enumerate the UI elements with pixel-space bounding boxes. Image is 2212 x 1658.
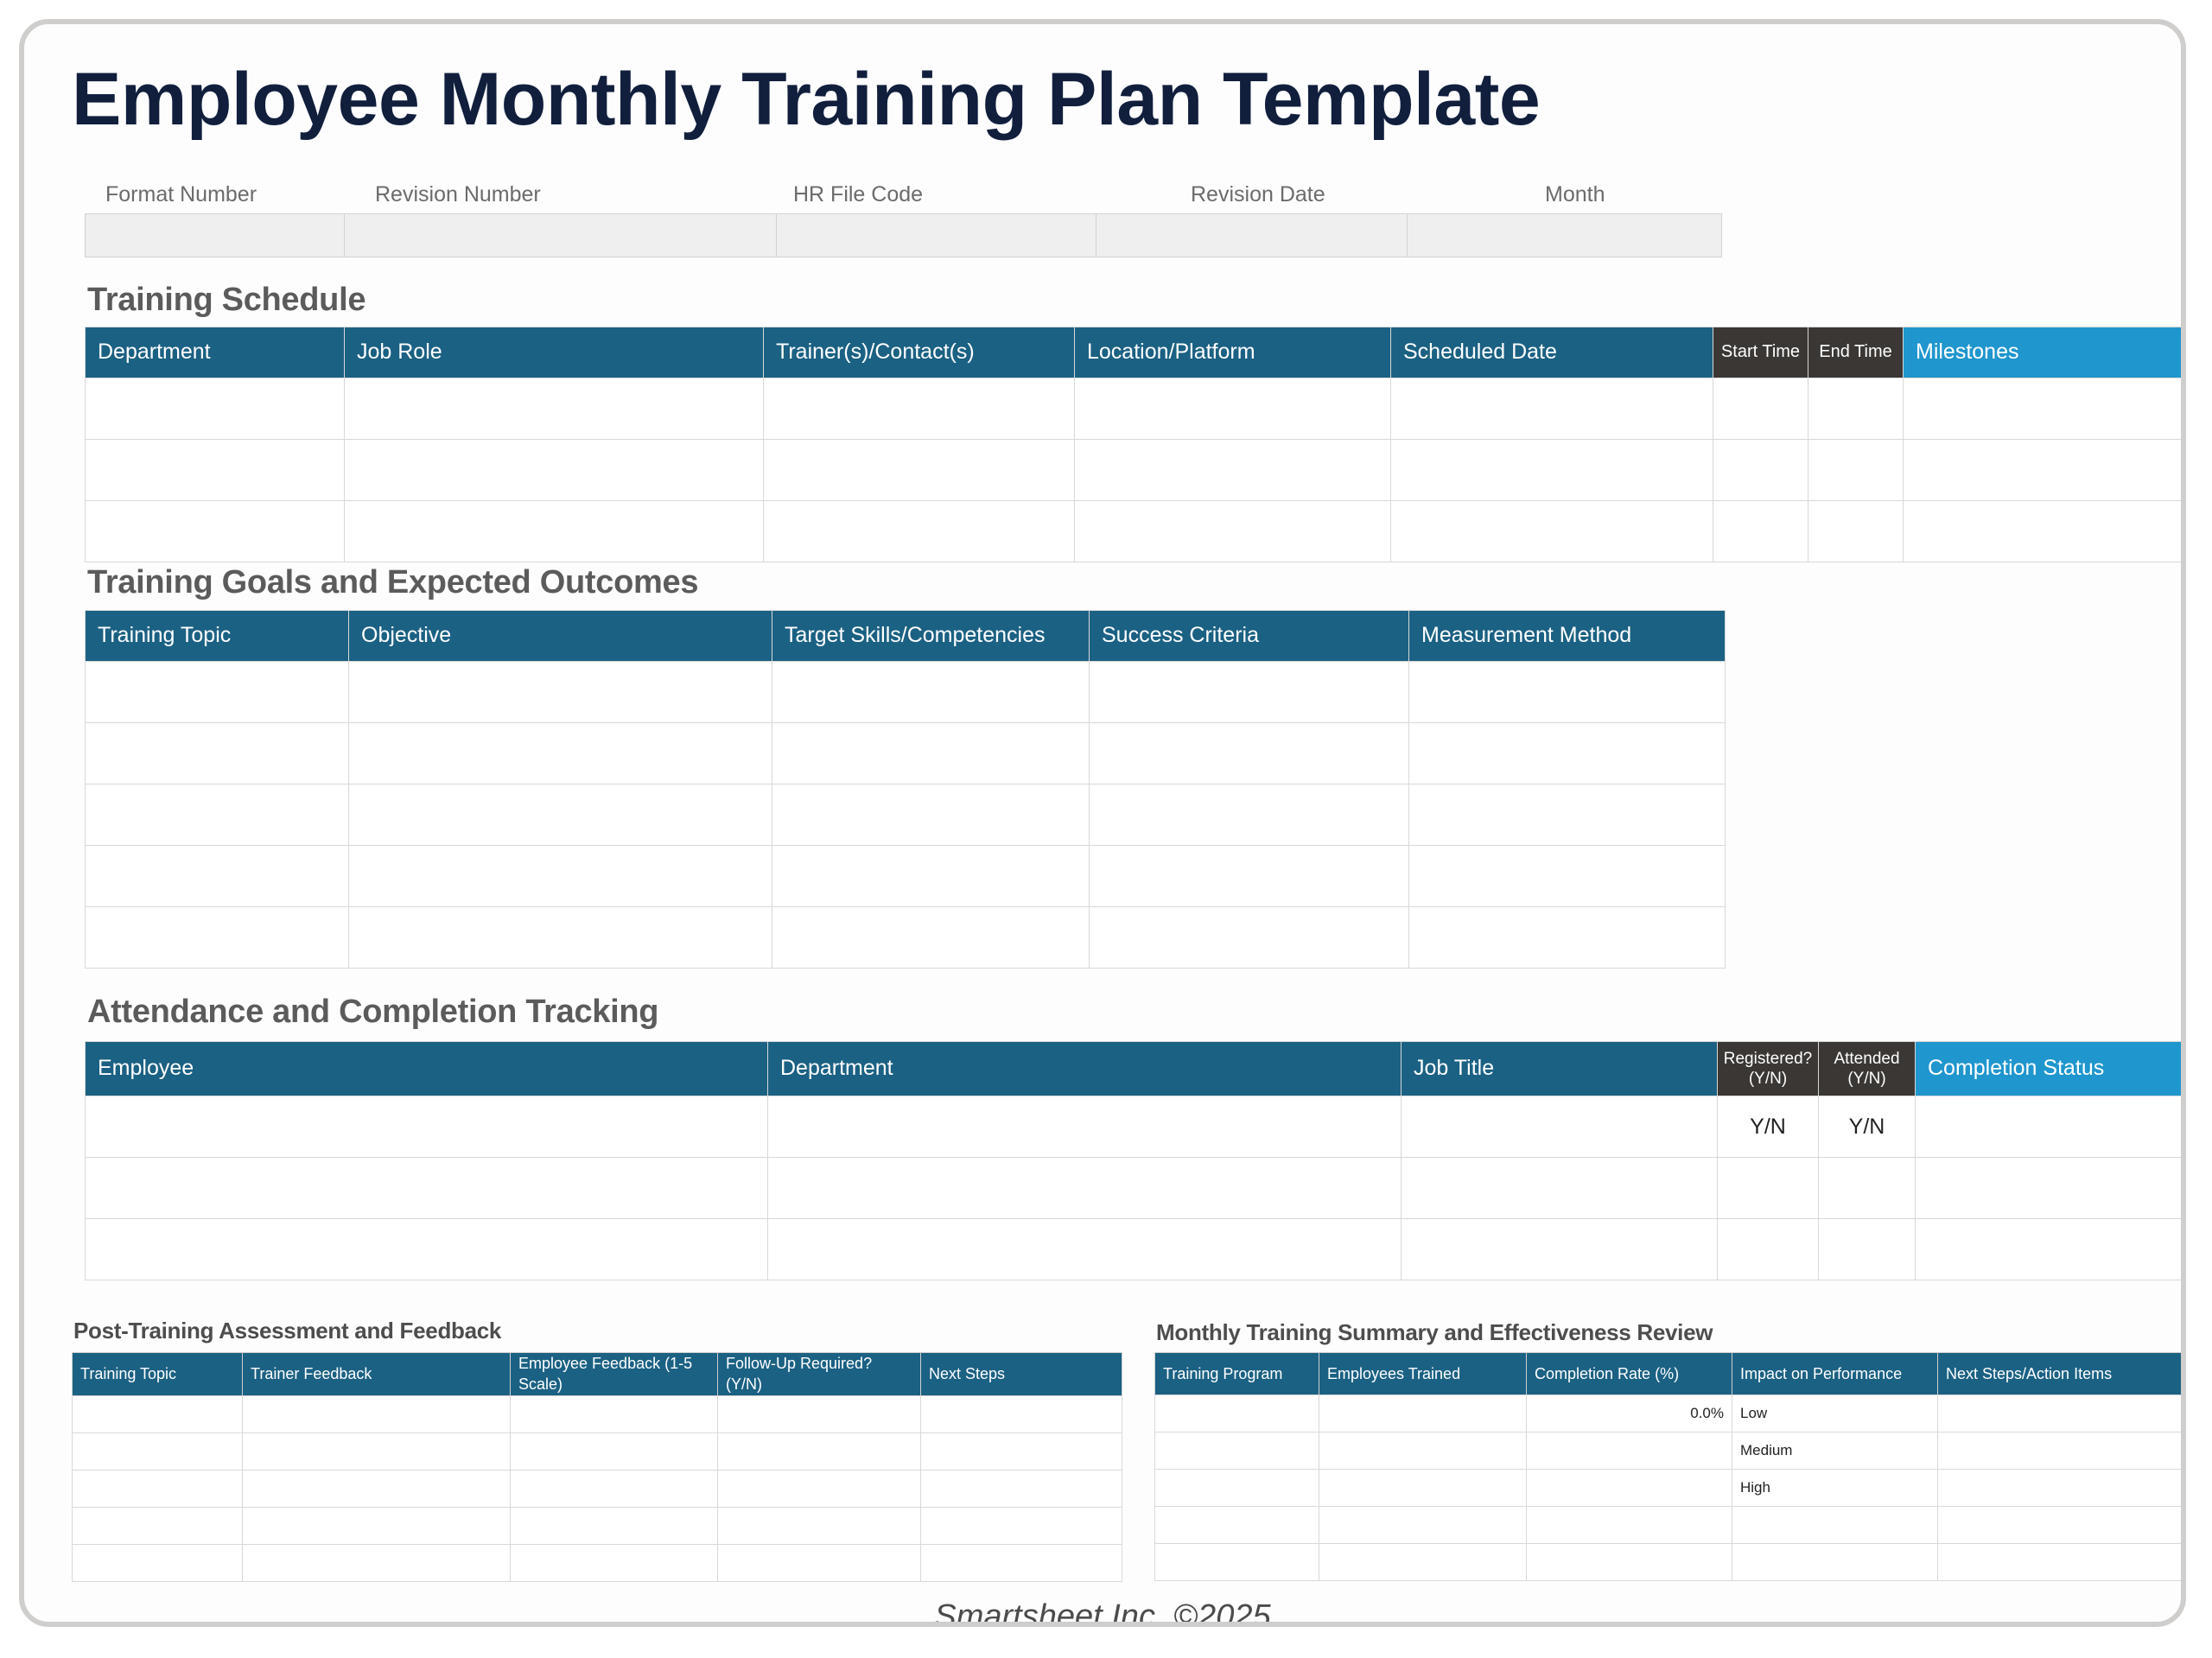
cell-completion-rate[interactable] <box>1527 1470 1732 1507</box>
cell-measurement-method[interactable] <box>1409 662 1726 723</box>
cell-next-steps-action-items[interactable] <box>1938 1395 2183 1432</box>
cell-next-steps-action-items[interactable] <box>1938 1470 2183 1507</box>
cell-employees-trained[interactable] <box>1319 1544 1527 1581</box>
col-training-program[interactable]: Training Program <box>1155 1353 1319 1395</box>
cell-follow-up-required[interactable] <box>718 1507 921 1544</box>
col-job-role[interactable]: Job Role <box>345 327 764 378</box>
meta-label-revision-date: Revision Date <box>1191 182 1325 207</box>
table-row <box>1155 1544 2183 1581</box>
col-location[interactable]: Location/Platform <box>1075 327 1391 378</box>
col-training-topic[interactable]: Training Topic <box>86 611 349 662</box>
col-department[interactable]: Department <box>768 1042 1402 1096</box>
cell-registered[interactable] <box>1718 1219 1819 1280</box>
cell-impact-on-performance[interactable]: Low <box>1732 1395 1938 1432</box>
section-heading-training-goals: Training Goals and Expected Outcomes <box>87 564 698 601</box>
meta-label-hr-file-code: HR File Code <box>793 182 923 207</box>
cell-start-time[interactable] <box>1713 440 1808 501</box>
col-target-skills[interactable]: Target Skills/Competencies <box>772 611 1090 662</box>
table-row: High <box>1155 1470 2183 1507</box>
cell-job-title[interactable] <box>1402 1219 1718 1280</box>
table-row <box>86 440 2187 501</box>
col-completion-status[interactable]: Completion Status <box>1916 1042 2187 1096</box>
table-row: Y/N Y/N <box>86 1096 2187 1158</box>
cell-department[interactable] <box>768 1219 1402 1280</box>
col-employees-trained[interactable]: Employees Trained <box>1319 1353 1527 1395</box>
cell-trainer-feedback[interactable] <box>243 1544 511 1581</box>
cell-training-program[interactable] <box>1155 1395 1319 1432</box>
cell-trainer-feedback[interactable] <box>243 1507 511 1544</box>
cell-attended[interactable] <box>1819 1158 1916 1219</box>
cell-job-title[interactable] <box>1402 1096 1718 1158</box>
table-header-row: Training Topic Objective Target Skills/C… <box>86 611 1726 662</box>
cell-training-program[interactable] <box>1155 1507 1319 1544</box>
cell-objective[interactable] <box>349 907 772 969</box>
meta-field-month[interactable] <box>1408 214 1722 257</box>
cell-training-topic[interactable] <box>73 1432 243 1470</box>
table-row <box>86 662 1726 723</box>
cell-milestones[interactable] <box>1904 501 2187 562</box>
table-row <box>73 1544 1122 1581</box>
cell-impact-on-performance[interactable]: Medium <box>1732 1432 1938 1470</box>
section-heading-post-training: Post-Training Assessment and Feedback <box>73 1318 501 1344</box>
meta-field-revision-number[interactable] <box>345 214 777 257</box>
cell-location[interactable] <box>1075 440 1391 501</box>
cell-employees-trained[interactable] <box>1319 1507 1527 1544</box>
attendance-tracking-table: Employee Department Job Title Registered… <box>85 1041 2186 1280</box>
cell-impact-on-performance[interactable]: High <box>1732 1470 1938 1507</box>
cell-objective[interactable] <box>349 662 772 723</box>
col-measurement-method[interactable]: Measurement Method <box>1409 611 1726 662</box>
cell-completion-rate[interactable]: 0.0% <box>1527 1395 1732 1432</box>
cell-training-topic[interactable] <box>86 907 349 969</box>
meta-label-revision-number: Revision Number <box>375 182 541 207</box>
col-attended[interactable]: Attended (Y/N) <box>1819 1042 1916 1096</box>
training-goals-table: Training Topic Objective Target Skills/C… <box>85 610 1726 969</box>
table-row <box>73 1507 1122 1544</box>
cell-training-topic[interactable] <box>86 846 349 907</box>
cell-milestones[interactable] <box>1904 378 2187 440</box>
cell-trainers[interactable] <box>764 440 1075 501</box>
cell-employee[interactable] <box>86 1096 768 1158</box>
table-header-row: Employee Department Job Title Registered… <box>86 1042 2187 1096</box>
col-end-time[interactable]: End Time <box>1808 327 1904 378</box>
cell-next-steps[interactable] <box>921 1507 1122 1544</box>
cell-next-steps[interactable] <box>921 1432 1122 1470</box>
cell-training-topic[interactable] <box>73 1544 243 1581</box>
cell-next-steps[interactable] <box>921 1395 1122 1432</box>
col-next-steps-action-items[interactable]: Next Steps/Action Items <box>1938 1353 2183 1395</box>
cell-completion-rate[interactable] <box>1527 1544 1732 1581</box>
meta-field-revision-date[interactable] <box>1096 214 1408 257</box>
cell-target-skills[interactable] <box>772 907 1090 969</box>
cell-objective[interactable] <box>349 785 772 846</box>
document-page: Employee Monthly Training Plan Template … <box>19 19 2186 1627</box>
post-training-feedback-table: Training Topic Trainer Feedback Employee… <box>72 1352 1122 1582</box>
cell-measurement-method[interactable] <box>1409 846 1726 907</box>
col-next-steps[interactable]: Next Steps <box>921 1353 1122 1396</box>
cell-attended[interactable]: Y/N <box>1819 1096 1916 1158</box>
cell-next-steps-action-items[interactable] <box>1938 1544 2183 1581</box>
cell-trainers[interactable] <box>764 378 1075 440</box>
col-follow-up-required[interactable]: Follow-Up Required? (Y/N) <box>718 1353 921 1396</box>
cell-follow-up-required[interactable] <box>718 1544 921 1581</box>
document-body: Employee Monthly Training Plan Template … <box>24 24 2181 1622</box>
meta-value-row <box>85 213 1722 257</box>
page-title: Employee Monthly Training Plan Template <box>72 57 1540 143</box>
cell-employee-feedback[interactable] <box>511 1432 718 1470</box>
training-schedule-table: Department Job Role Trainer(s)/Contact(s… <box>85 327 2186 562</box>
section-heading-attendance: Attendance and Completion Tracking <box>87 994 658 1031</box>
col-training-topic[interactable]: Training Topic <box>73 1353 243 1396</box>
cell-location[interactable] <box>1075 501 1391 562</box>
cell-employees-trained[interactable] <box>1319 1432 1527 1470</box>
cell-completion-status[interactable] <box>1916 1158 2187 1219</box>
col-impact-on-performance[interactable]: Impact on Performance <box>1732 1353 1938 1395</box>
cell-job-title[interactable] <box>1402 1158 1718 1219</box>
meta-label-format-number: Format Number <box>105 182 257 207</box>
cell-training-topic[interactable] <box>86 785 349 846</box>
cell-department[interactable] <box>768 1158 1402 1219</box>
section-heading-monthly-summary: Monthly Training Summary and Effectivene… <box>1156 1319 1713 1346</box>
col-success-criteria[interactable]: Success Criteria <box>1090 611 1409 662</box>
cell-job-role[interactable] <box>345 440 764 501</box>
cell-objective[interactable] <box>349 723 772 785</box>
col-completion-rate[interactable]: Completion Rate (%) <box>1527 1353 1732 1395</box>
cell-trainer-feedback[interactable] <box>243 1432 511 1470</box>
meta-field-format-number[interactable] <box>86 214 345 257</box>
cell-measurement-method[interactable] <box>1409 785 1726 846</box>
cell-scheduled-date[interactable] <box>1391 440 1713 501</box>
table-header-row: Training Program Employees Trained Compl… <box>1155 1353 2183 1395</box>
cell-department[interactable] <box>768 1096 1402 1158</box>
cell-training-program[interactable] <box>1155 1544 1319 1581</box>
cell-completion-status[interactable] <box>1916 1096 2187 1158</box>
cell-department[interactable] <box>86 440 345 501</box>
cell-registered[interactable]: Y/N <box>1718 1096 1819 1158</box>
meta-field-hr-file-code[interactable] <box>777 214 1096 257</box>
cell-trainer-feedback[interactable] <box>243 1470 511 1507</box>
cell-trainers[interactable] <box>764 501 1075 562</box>
meta-label-row: Format Number Revision Number HR File Co… <box>85 182 1726 206</box>
table-row <box>86 1158 2187 1219</box>
table-row <box>73 1470 1122 1507</box>
col-milestones[interactable]: Milestones <box>1904 327 2187 378</box>
table-row <box>86 1219 2187 1280</box>
cell-employee-feedback[interactable] <box>511 1507 718 1544</box>
cell-start-time[interactable] <box>1713 378 1808 440</box>
cell-start-time[interactable] <box>1713 501 1808 562</box>
cell-registered[interactable] <box>1718 1158 1819 1219</box>
table-header-row: Training Topic Trainer Feedback Employee… <box>73 1353 1122 1396</box>
cell-success-criteria[interactable] <box>1090 785 1409 846</box>
section-heading-training-schedule: Training Schedule <box>87 282 365 319</box>
col-employee[interactable]: Employee <box>86 1042 768 1096</box>
cell-training-topic[interactable] <box>86 723 349 785</box>
cell-training-program[interactable] <box>1155 1470 1319 1507</box>
cell-follow-up-required[interactable] <box>718 1470 921 1507</box>
cell-completion-rate[interactable] <box>1527 1507 1732 1544</box>
cell-scheduled-date[interactable] <box>1391 378 1713 440</box>
cell-employee-feedback[interactable] <box>511 1544 718 1581</box>
cell-training-topic[interactable] <box>73 1470 243 1507</box>
col-start-time[interactable]: Start Time <box>1713 327 1808 378</box>
cell-target-skills[interactable] <box>772 785 1090 846</box>
cell-success-criteria[interactable] <box>1090 662 1409 723</box>
cell-impact-on-performance[interactable] <box>1732 1544 1938 1581</box>
cell-target-skills[interactable] <box>772 723 1090 785</box>
cell-objective[interactable] <box>349 846 772 907</box>
cell-impact-on-performance[interactable] <box>1732 1507 1938 1544</box>
col-trainer-feedback[interactable]: Trainer Feedback <box>243 1353 511 1396</box>
table-row <box>73 1432 1122 1470</box>
cell-scheduled-date[interactable] <box>1391 501 1713 562</box>
col-employee-feedback[interactable]: Employee Feedback (1-5 Scale) <box>511 1353 718 1396</box>
table-header-row: Department Job Role Trainer(s)/Contact(s… <box>86 327 2187 378</box>
cell-end-time[interactable] <box>1808 501 1904 562</box>
cell-location[interactable] <box>1075 378 1391 440</box>
cell-target-skills[interactable] <box>772 662 1090 723</box>
cell-follow-up-required[interactable] <box>718 1432 921 1470</box>
meta-label-month: Month <box>1545 182 1605 207</box>
table-row <box>86 723 1726 785</box>
cell-job-role[interactable] <box>345 501 764 562</box>
monthly-summary-table: Training Program Employees Trained Compl… <box>1154 1352 2183 1581</box>
table-row <box>1155 1507 2183 1544</box>
table-row <box>86 846 1726 907</box>
cell-completion-status[interactable] <box>1916 1219 2187 1280</box>
cell-next-steps[interactable] <box>921 1470 1122 1507</box>
cell-attended[interactable] <box>1819 1219 1916 1280</box>
col-trainers[interactable]: Trainer(s)/Contact(s) <box>764 327 1075 378</box>
col-department[interactable]: Department <box>86 327 345 378</box>
cell-training-program[interactable] <box>1155 1432 1319 1470</box>
table-row: 0.0% Low <box>1155 1395 2183 1432</box>
cell-department[interactable] <box>86 378 345 440</box>
cell-end-time[interactable] <box>1808 440 1904 501</box>
col-scheduled-date[interactable]: Scheduled Date <box>1391 327 1713 378</box>
cell-training-topic[interactable] <box>86 662 349 723</box>
cell-next-steps[interactable] <box>921 1544 1122 1581</box>
cell-next-steps-action-items[interactable] <box>1938 1432 2183 1470</box>
table-row <box>86 501 2187 562</box>
cell-completion-rate[interactable] <box>1527 1432 1732 1470</box>
table-row <box>73 1395 1122 1432</box>
cell-employees-trained[interactable] <box>1319 1395 1527 1432</box>
col-registered[interactable]: Registered? (Y/N) <box>1718 1042 1819 1096</box>
cell-employee[interactable] <box>86 1219 768 1280</box>
col-objective[interactable]: Objective <box>349 611 772 662</box>
cell-department[interactable] <box>86 501 345 562</box>
cell-job-role[interactable] <box>345 378 764 440</box>
cell-employee[interactable] <box>86 1158 768 1219</box>
cell-success-criteria[interactable] <box>1090 723 1409 785</box>
footer-copyright: Smartsheet Inc. ©2025 <box>24 1598 2181 1627</box>
table-row: Medium <box>1155 1432 2183 1470</box>
cell-next-steps-action-items[interactable] <box>1938 1507 2183 1544</box>
cell-measurement-method[interactable] <box>1409 723 1726 785</box>
cell-employee-feedback[interactable] <box>511 1470 718 1507</box>
cell-end-time[interactable] <box>1808 378 1904 440</box>
cell-follow-up-required[interactable] <box>718 1395 921 1432</box>
cell-trainer-feedback[interactable] <box>243 1395 511 1432</box>
table-row <box>86 785 1726 846</box>
cell-success-criteria[interactable] <box>1090 846 1409 907</box>
cell-target-skills[interactable] <box>772 846 1090 907</box>
table-row <box>86 378 2187 440</box>
cell-milestones[interactable] <box>1904 440 2187 501</box>
cell-employee-feedback[interactable] <box>511 1395 718 1432</box>
cell-success-criteria[interactable] <box>1090 907 1409 969</box>
cell-training-topic[interactable] <box>73 1507 243 1544</box>
cell-employees-trained[interactable] <box>1319 1470 1527 1507</box>
table-row <box>86 907 1726 969</box>
cell-training-topic[interactable] <box>73 1395 243 1432</box>
cell-measurement-method[interactable] <box>1409 907 1726 969</box>
col-job-title[interactable]: Job Title <box>1402 1042 1718 1096</box>
